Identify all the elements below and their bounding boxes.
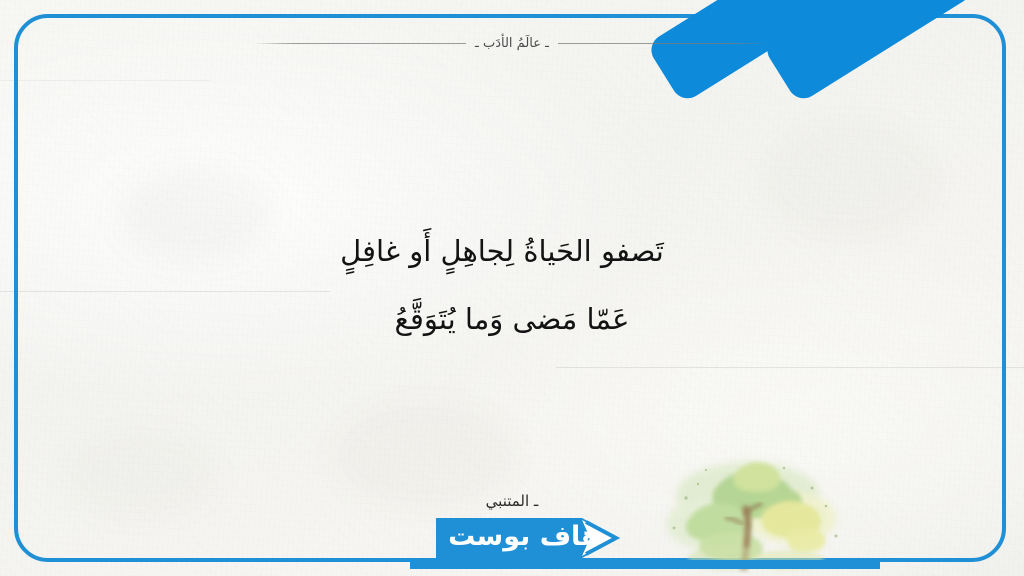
poem-block: تَصفو الحَياةُ لِجاهِلٍ أَو غافِلٍ عَمّا… — [0, 236, 1024, 336]
poem-line-1: تَصفو الحَياةُ لِجاهِلٍ أَو غافِلٍ — [0, 236, 1024, 268]
header-rule-left — [558, 43, 770, 44]
watermark-bar — [410, 560, 880, 569]
page-title: ـ عالَمُ الأدَب ـ — [475, 36, 549, 51]
decorative-stripes — [700, 0, 1024, 106]
header: ـ عالَمُ الأدَب ـ — [0, 36, 1024, 51]
watermark-badge: هاف بوست — [432, 506, 637, 576]
watermark-text: هاف بوست — [444, 517, 604, 555]
slide-canvas: ـ عالَمُ الأدَب ـ تَصفو الحَياةُ لِجاهِل… — [0, 0, 1024, 576]
poem-line-2: عَمّا مَضى وَما يُتَوَقَّعُ — [0, 304, 1024, 336]
header-rule-right — [254, 43, 466, 44]
